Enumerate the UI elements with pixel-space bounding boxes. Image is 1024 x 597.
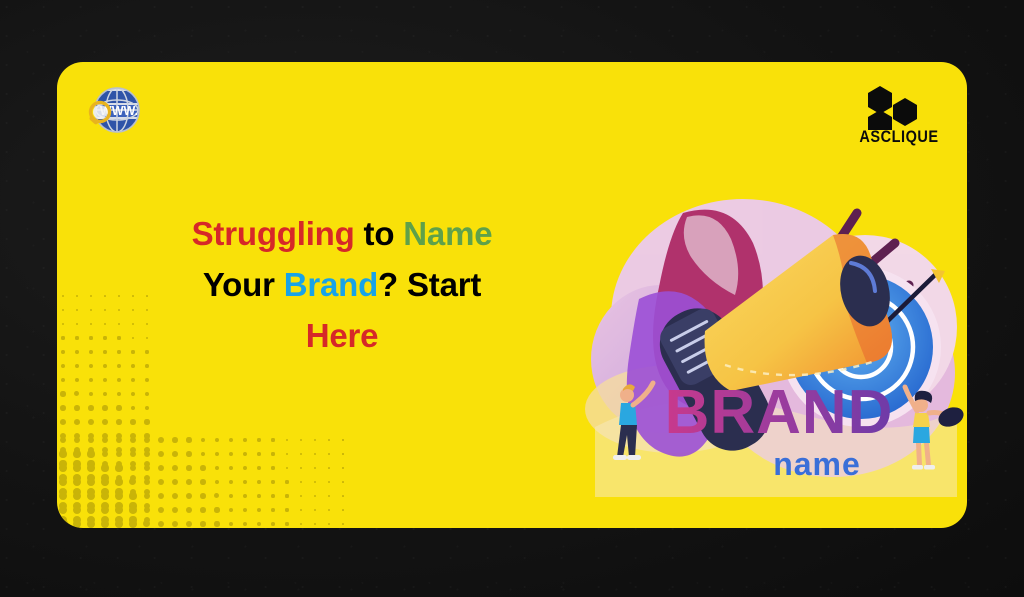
www-globe-search-icon: WWW. bbox=[81, 80, 147, 142]
hexagon-cluster-icon bbox=[853, 80, 945, 130]
headline-word-your: Your bbox=[203, 266, 284, 303]
yellow-banner-card: WWW. ASCLIQUE bbox=[57, 62, 967, 528]
brand-name-illustration: BRAND name bbox=[565, 177, 965, 497]
headline-word-start: ? Start bbox=[378, 266, 481, 303]
page-title: Struggling to Name Your Brand? Start Her… bbox=[107, 208, 577, 361]
illustration-word-name: name bbox=[773, 446, 861, 482]
headline-word-to: to bbox=[355, 215, 404, 252]
headline-word-brand: Brand bbox=[284, 266, 378, 303]
halftone-dots-bottom bbox=[57, 434, 357, 528]
illustration-word-brand: BRAND bbox=[665, 378, 894, 447]
asclique-logo: ASCLIQUE bbox=[853, 80, 945, 158]
headline-line-3: Here bbox=[107, 310, 577, 361]
headline-word-struggling: Struggling bbox=[192, 215, 355, 252]
headline-line-2: Your Brand? Start bbox=[107, 259, 577, 310]
banner-backdrop: WWW. ASCLIQUE bbox=[0, 0, 1024, 597]
asclique-logo-text: ASCLIQUE bbox=[859, 128, 940, 147]
headline-line-1: Struggling to Name bbox=[107, 208, 577, 259]
headline-word-name: Name bbox=[403, 215, 492, 252]
headline-word-here: Here bbox=[306, 317, 379, 354]
